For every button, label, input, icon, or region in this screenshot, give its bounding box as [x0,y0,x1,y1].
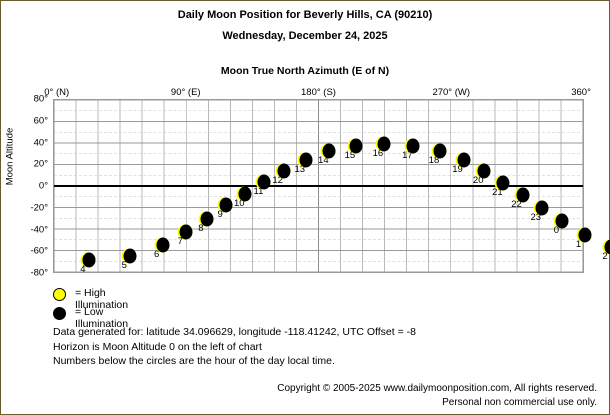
hour-label-23: 23 [530,212,541,223]
hour-label-15: 15 [345,150,356,161]
x-tick-label-360: 360° [571,87,591,98]
hour-label-13: 13 [294,164,305,175]
hour-label-6: 6 [154,249,159,260]
hour-label-16: 16 [373,148,384,159]
y-axis-title: Moon Altitude [5,87,16,227]
hour-label-0: 0 [554,225,559,236]
hour-label-21: 21 [492,187,503,198]
x-tick-label-0: 0° (N) [44,87,69,98]
x-axis-title: Moon True North Azimuth (E of N) [1,65,609,77]
hour-label-11: 11 [254,186,264,197]
hour-label-14: 14 [318,155,329,166]
hour-label-5: 5 [122,260,127,271]
chart-frame: Daily Moon Position for Beverly Hills, C… [0,0,610,415]
hour-label-2: 2 [602,251,607,262]
note-data-generated: Data generated for: latitude 34.096629, … [53,325,416,340]
hour-label-8: 8 [198,223,203,234]
hour-label-1: 1 [576,239,581,250]
plot-area [53,99,584,273]
hour-label-9: 9 [217,209,222,220]
note-hour-numbers: Numbers below the circles are the hour o… [53,354,416,369]
hour-label-19: 19 [452,164,463,175]
note-horizon: Horizon is Moon Altitude 0 on the left o… [53,340,416,355]
page-subtitle-date: Wednesday, December 24, 2025 [1,30,609,42]
hour-label-7: 7 [178,236,183,247]
y-tick-label--60: -60° [8,246,48,257]
x-tick-label-270: 270° (W) [432,87,470,98]
hour-label-12: 12 [272,175,283,186]
page-title: Daily Moon Position for Beverly Hills, C… [1,9,609,21]
notes-block: Data generated for: latitude 34.096629, … [53,325,416,369]
hour-label-22: 22 [511,199,522,210]
hour-label-4: 4 [80,264,85,275]
y-tick-label--80: -80° [8,268,48,279]
hour-label-10: 10 [234,198,245,209]
hour-label-17: 17 [402,150,413,161]
copyright-line-1: Copyright © 2005-2025 www.dailymoonposit… [277,382,597,396]
copyright-line-2: Personal non commercial use only. [277,396,597,410]
x-tick-label-90: 90° (E) [171,87,201,98]
x-tick-label-180: 180° (S) [301,87,336,98]
hour-label-18: 18 [429,155,440,166]
high-illumination-icon [53,288,66,301]
copyright-block: Copyright © 2005-2025 www.dailymoonposit… [277,382,597,410]
hour-label-20: 20 [473,175,484,186]
low-illumination-icon [53,307,66,320]
